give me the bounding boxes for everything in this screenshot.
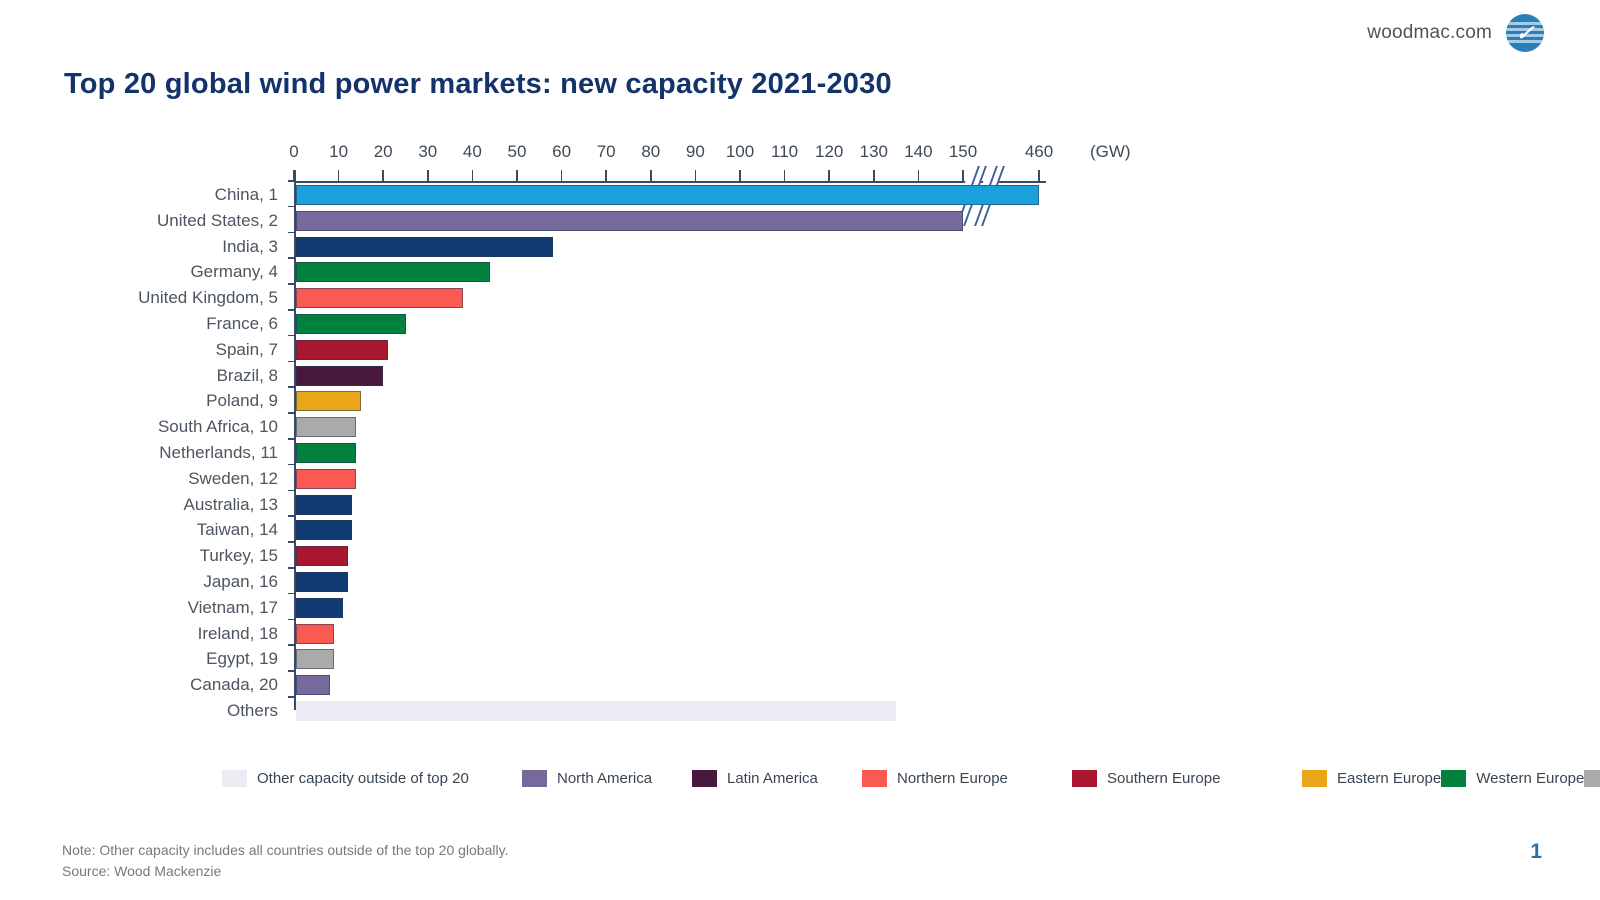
page-number: 1 [1530, 840, 1542, 864]
y-axis-tick [288, 361, 295, 363]
x-axis-tick-label: 110 [771, 142, 798, 162]
x-axis-tick [472, 170, 474, 181]
y-axis-tick [288, 283, 295, 285]
chart-row: Spain, 7 [64, 337, 1244, 363]
y-axis-tick [288, 696, 295, 698]
woodmac-logo-icon: ✓ [1506, 14, 1544, 52]
x-axis-tick [605, 170, 607, 181]
x-axis-tick-label: 20 [374, 142, 393, 162]
y-axis-tick [288, 438, 295, 440]
chart-row: Sweden, 12 [64, 466, 1244, 492]
y-axis-tick [288, 257, 295, 259]
legend-label: Western Europe [1476, 770, 1584, 787]
legend-color-swatch [1584, 770, 1600, 787]
x-axis-tick [828, 170, 830, 181]
footer-note: Note: Other capacity includes all countr… [62, 840, 508, 861]
chart-bar[interactable] [296, 546, 348, 566]
chart-bar[interactable] [296, 675, 330, 695]
chart-row: Egypt, 19 [64, 646, 1244, 672]
legend-color-swatch [222, 770, 247, 787]
x-axis-tick-label: 100 [726, 142, 754, 162]
chart-row: Taiwan, 14 [64, 517, 1244, 543]
y-axis-category-label: Egypt, 19 [64, 646, 278, 672]
chart-bar[interactable] [296, 288, 463, 308]
legend-color-swatch [692, 770, 717, 787]
chart-plot: (GW) 01020304050607080901001101201301401… [64, 136, 1244, 736]
y-axis-category-label: Taiwan, 14 [64, 517, 278, 543]
chart-bar[interactable] [296, 417, 356, 437]
y-axis-tick [288, 541, 295, 543]
chart-bar[interactable] [296, 340, 388, 360]
chart-row: Canada, 20 [64, 672, 1244, 698]
chart-row: Poland, 9 [64, 388, 1244, 414]
y-axis-category-label: Turkey, 15 [64, 543, 278, 569]
chart-row: Australia, 13 [64, 492, 1244, 518]
chart-row: United Kingdom, 5 [64, 285, 1244, 311]
legend-item[interactable]: Southern Europe [1072, 764, 1302, 792]
chart-row: Others [64, 698, 1244, 724]
legend-label: Eastern Europe [1337, 770, 1441, 787]
chart-bar[interactable] [296, 572, 348, 592]
x-axis-tick [784, 170, 786, 181]
legend-label: Latin America [727, 770, 818, 787]
chart-row: Turkey, 15 [64, 543, 1244, 569]
chart-row: Vietnam, 17 [64, 595, 1244, 621]
chart-bar[interactable] [296, 185, 1039, 205]
x-axis-tick-label: 70 [597, 142, 616, 162]
y-axis-tick [288, 515, 295, 517]
legend-color-swatch [1072, 770, 1097, 787]
y-axis-tick [288, 180, 295, 182]
y-axis-category-label: Poland, 9 [64, 388, 278, 414]
x-axis-tick [650, 170, 652, 181]
chart-bar[interactable] [296, 598, 343, 618]
legend-color-swatch [522, 770, 547, 787]
x-axis-tick [427, 170, 429, 181]
legend-item[interactable]: Latin America [692, 764, 862, 792]
chart-row: France, 6 [64, 311, 1244, 337]
y-axis-category-label: Ireland, 18 [64, 621, 278, 647]
x-axis-tick [739, 170, 741, 181]
x-axis-tick-label: 150 [949, 142, 977, 162]
x-axis-tick [338, 170, 340, 181]
y-axis-tick [288, 490, 295, 492]
page-title: Top 20 global wind power markets: new ca… [64, 68, 892, 101]
chart-bar[interactable] [296, 624, 334, 644]
chart-bar[interactable] [296, 701, 896, 721]
x-axis-tick-label: 10 [329, 142, 348, 162]
chart-bar[interactable] [296, 314, 406, 334]
chart-area: (GW) 01020304050607080901001101201301401… [64, 136, 1244, 736]
y-axis-tick [288, 386, 295, 388]
legend-label: Southern Europe [1107, 770, 1220, 787]
y-axis-category-label: France, 6 [64, 311, 278, 337]
x-axis-tick-label: 30 [418, 142, 437, 162]
y-axis-tick [288, 644, 295, 646]
y-axis-tick [288, 567, 295, 569]
chart-row: China, 1 [64, 182, 1244, 208]
x-axis-tick-label: 60 [552, 142, 571, 162]
y-axis-category-label: India, 3 [64, 234, 278, 260]
x-axis-tick [695, 170, 697, 181]
legend-label: North America [557, 770, 652, 787]
chart-bar[interactable] [296, 520, 352, 540]
legend-item[interactable]: Middle East and Africa [1584, 764, 1600, 792]
chart-row: United States, 2 [64, 208, 1244, 234]
y-axis-category-label: Netherlands, 11 [64, 440, 278, 466]
brand-url-text: woodmac.com [1367, 22, 1492, 44]
y-axis-category-label: Sweden, 12 [64, 466, 278, 492]
chart-row: Netherlands, 11 [64, 440, 1244, 466]
chart-bar[interactable] [296, 237, 553, 257]
y-axis-tick [288, 232, 295, 234]
y-axis-category-label: Vietnam, 17 [64, 595, 278, 621]
x-axis-tick-label: 120 [815, 142, 843, 162]
x-axis-tick [382, 170, 384, 181]
x-axis-tick-label: 130 [860, 142, 888, 162]
y-axis-tick [288, 464, 295, 466]
y-axis-tick [288, 412, 295, 414]
y-axis-category-label: Spain, 7 [64, 337, 278, 363]
y-axis-category-label: Brazil, 8 [64, 363, 278, 389]
y-axis-tick [288, 670, 295, 672]
legend-color-swatch [1302, 770, 1327, 787]
legend-label: Other capacity outside of top 20 [257, 770, 469, 787]
x-axis-tick-label: 140 [904, 142, 932, 162]
chart-bar[interactable] [296, 495, 352, 515]
x-axis-tick-label: 0 [289, 142, 298, 162]
x-axis-tick [918, 170, 920, 181]
x-axis-tick-label: 90 [686, 142, 705, 162]
chart-bar[interactable] [296, 469, 356, 489]
legend-item[interactable]: North America [522, 764, 692, 792]
x-axis-unit-label: (GW) [1090, 142, 1131, 162]
chart-row: Ireland, 18 [64, 621, 1244, 647]
chart-row: Germany, 4 [64, 259, 1244, 285]
legend-item[interactable]: Other capacity outside of top 20 [222, 764, 522, 792]
x-axis-tick-label: 40 [463, 142, 482, 162]
chart-bar[interactable] [296, 211, 963, 231]
chart-bar[interactable] [296, 366, 383, 386]
logo-check-glyph: ✓ [1506, 14, 1544, 52]
chart-row: Japan, 16 [64, 569, 1244, 595]
header-brand-bar: woodmac.com ✓ [1367, 14, 1544, 52]
x-axis-tick [962, 170, 964, 181]
legend-color-swatch [1441, 770, 1466, 787]
chart-bar[interactable] [296, 649, 334, 669]
footer-source: Source: Wood Mackenzie [62, 861, 508, 882]
chart-legend: Other capacity outside of top 20North Am… [222, 764, 1342, 792]
legend-item[interactable]: Northern Europe [862, 764, 1072, 792]
y-axis-tick [288, 309, 295, 311]
y-axis-category-label: United Kingdom, 5 [64, 285, 278, 311]
y-axis-category-label: China, 1 [64, 182, 278, 208]
y-axis-category-label: Australia, 13 [64, 492, 278, 518]
chart-bar[interactable] [296, 391, 361, 411]
y-axis-category-label: Canada, 20 [64, 672, 278, 698]
x-axis-tick [561, 170, 563, 181]
chart-row: Brazil, 8 [64, 363, 1244, 389]
chart-bar[interactable] [296, 443, 356, 463]
y-axis-category-label: Germany, 4 [64, 259, 278, 285]
y-axis-category-label: Japan, 16 [64, 569, 278, 595]
x-axis-tick-label: 80 [641, 142, 660, 162]
x-axis-tick [873, 170, 875, 181]
x-axis-tick-label: 460 [1025, 142, 1053, 162]
y-axis-category-label: United States, 2 [64, 208, 278, 234]
chart-row: South Africa, 10 [64, 414, 1244, 440]
legend-item[interactable]: Western Europe [1441, 764, 1584, 792]
y-axis-category-label: Others [64, 698, 278, 724]
chart-row: India, 3 [64, 234, 1244, 260]
x-axis-tick-label: 50 [508, 142, 527, 162]
legend-item[interactable]: Eastern Europe [1302, 764, 1441, 792]
y-axis-tick [288, 335, 295, 337]
y-axis-category-label: South Africa, 10 [64, 414, 278, 440]
chart-bar[interactable] [296, 262, 490, 282]
footer-notes: Note: Other capacity includes all countr… [62, 840, 508, 882]
y-axis-tick [288, 619, 295, 621]
legend-label: Northern Europe [897, 770, 1008, 787]
x-axis-tick [516, 170, 518, 181]
x-axis-tick [1038, 170, 1040, 181]
y-axis-tick [288, 593, 295, 595]
legend-color-swatch [862, 770, 887, 787]
y-axis-tick [288, 206, 295, 208]
